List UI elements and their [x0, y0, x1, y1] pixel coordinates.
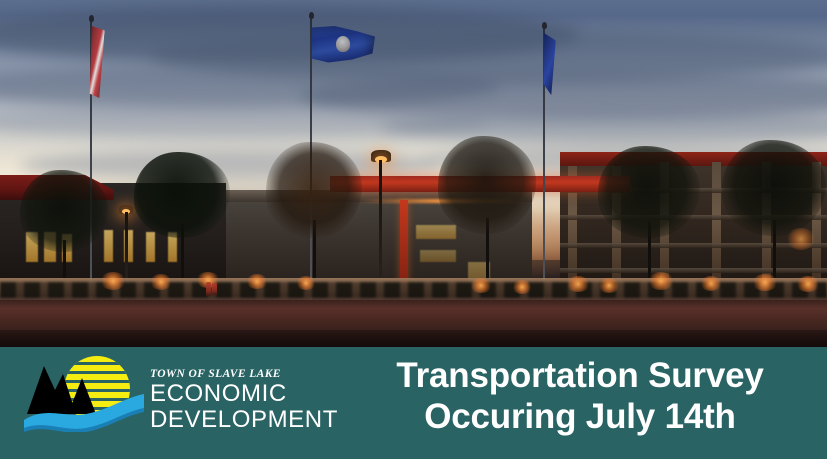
tree-canopy — [134, 152, 230, 238]
banner-title-line2: Occuring July 14th — [350, 396, 810, 437]
ground-light — [752, 274, 778, 291]
pedestrian — [212, 283, 217, 295]
flagpole-finial — [542, 22, 547, 29]
tree-canopy — [266, 142, 362, 238]
banner-title-line1: Transportation Survey — [350, 355, 810, 396]
promo-banner: TOWN OF SLAVE LAKE ECONOMIC DEVELOPMENT … — [0, 0, 827, 459]
ground-light — [566, 276, 590, 292]
ground-light — [598, 278, 620, 293]
ground-light — [796, 276, 820, 292]
tree-canopy — [438, 136, 536, 234]
flagpole-finial — [89, 15, 94, 22]
tree-canopy — [20, 170, 108, 252]
pedestrian — [206, 282, 211, 296]
logo-development-line: DEVELOPMENT — [150, 407, 335, 433]
ground-light — [512, 280, 532, 294]
economic-development-logo[interactable] — [22, 352, 146, 432]
ground-light — [296, 276, 316, 290]
alberta-crest-icon — [336, 36, 350, 52]
tree-canopy — [722, 140, 826, 236]
tree-canopy — [598, 146, 700, 238]
ground-light — [648, 272, 674, 290]
logo-economic-line: ECONOMIC — [150, 381, 335, 407]
logo-wordmark: TOWN OF SLAVE LAKE ECONOMIC DEVELOPMENT — [150, 368, 335, 433]
ground-light — [150, 274, 172, 290]
ground-light — [786, 228, 816, 250]
banner-photo — [0, 0, 827, 347]
ground-light — [100, 272, 126, 290]
ground-light — [246, 274, 268, 289]
ground-light — [700, 276, 722, 291]
road-shadow — [0, 330, 827, 347]
banner-title: Transportation Survey Occuring July 14th — [350, 355, 810, 437]
mountains-and-wave-icon — [22, 352, 146, 432]
ground-light — [470, 278, 492, 293]
flagpole-finial — [309, 12, 314, 19]
